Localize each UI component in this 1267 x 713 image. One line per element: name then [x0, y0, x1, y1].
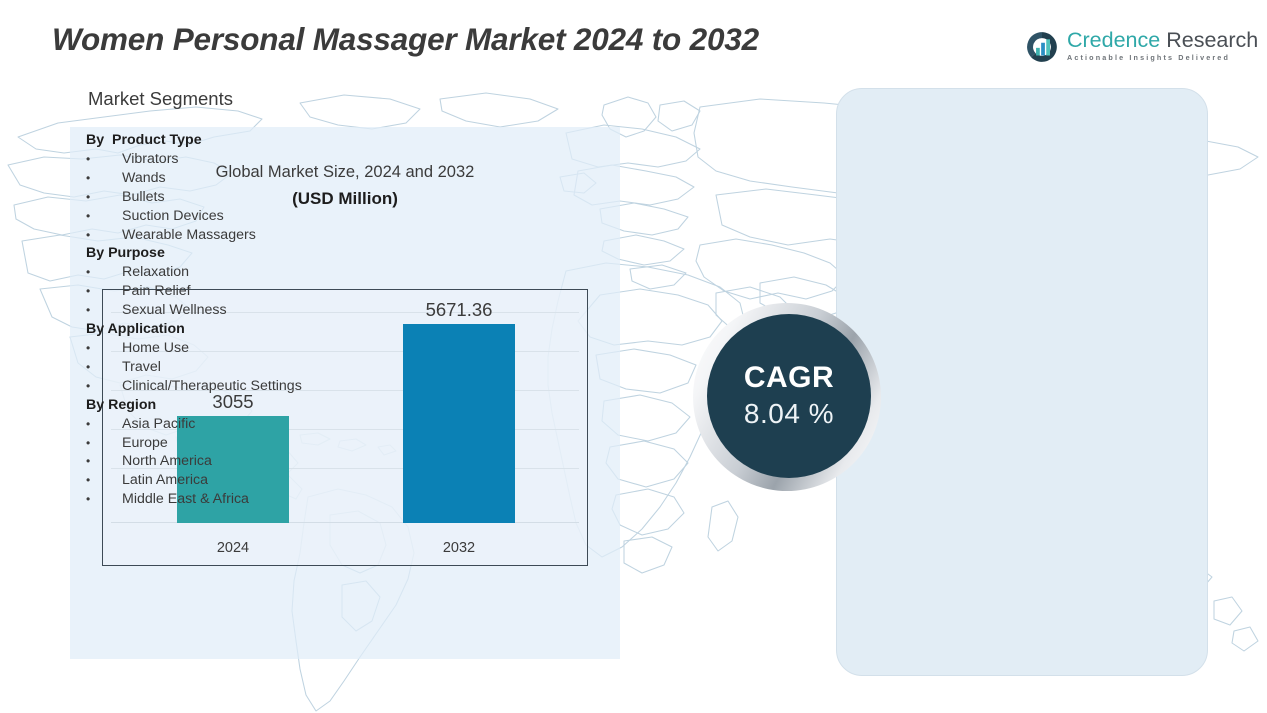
- segment-item: •Pain Relief: [86, 282, 386, 301]
- segment-item-label: Asia Pacific: [122, 415, 195, 434]
- bullet-icon: •: [86, 150, 122, 169]
- bullet-icon: •: [86, 452, 122, 471]
- market-segments-panel: [836, 88, 1208, 676]
- segment-item: •Latin America: [86, 471, 386, 490]
- segment-group-title: By Product Type: [86, 131, 386, 150]
- segment-item-label: North America: [122, 452, 212, 471]
- segment-item: •Europe: [86, 434, 386, 453]
- segment-item-label: Suction Devices: [122, 207, 224, 226]
- page-title: Women Personal Massager Market 2024 to 2…: [52, 21, 759, 58]
- bullet-icon: •: [86, 169, 122, 188]
- bar-value-2032: 5671.36: [384, 299, 534, 321]
- bullet-icon: •: [86, 377, 122, 396]
- segment-group-title: By Region: [86, 396, 386, 415]
- bullet-icon: •: [86, 339, 122, 358]
- logo-word-credence: Credence: [1067, 28, 1160, 52]
- segment-item: •Home Use: [86, 339, 386, 358]
- market-segments-list: By Product Type•Vibrators•Wands•Bullets•…: [86, 131, 386, 509]
- bullet-icon: •: [86, 263, 122, 282]
- segment-item: •Asia Pacific: [86, 415, 386, 434]
- cagr-badge: CAGR 8.04 %: [693, 303, 881, 491]
- segment-group-title: By Application: [86, 320, 386, 339]
- segment-item-label: Vibrators: [122, 150, 179, 169]
- cagr-value: 8.04 %: [744, 397, 834, 431]
- bullet-icon: •: [86, 226, 122, 245]
- segment-item-label: Home Use: [122, 339, 189, 358]
- cagr-disc: CAGR 8.04 %: [707, 314, 871, 478]
- logo-word-research: Research: [1166, 28, 1258, 52]
- segment-item: •Vibrators: [86, 150, 386, 169]
- bullet-icon: •: [86, 207, 122, 226]
- brand-logo[interactable]: Credence Research Actionable Insights De…: [1025, 28, 1245, 72]
- segment-item: •Clinical/Therapeutic Settings: [86, 377, 386, 396]
- logo-tagline: Actionable Insights Delivered: [1067, 53, 1258, 62]
- segment-item: •Relaxation: [86, 263, 386, 282]
- segment-item: •North America: [86, 452, 386, 471]
- bullet-icon: •: [86, 490, 122, 509]
- bar-category-2024: 2024: [158, 540, 308, 556]
- segment-item-label: Wands: [122, 169, 166, 188]
- bar-2032[interactable]: [403, 324, 515, 523]
- market-segments-title: Market Segments: [88, 88, 233, 110]
- segment-item-label: Relaxation: [122, 263, 189, 282]
- circle-bar-chart-icon: [1025, 30, 1059, 64]
- segment-item: •Suction Devices: [86, 207, 386, 226]
- bar-category-2032: 2032: [384, 540, 534, 556]
- segment-item: •Wearable Massagers: [86, 226, 386, 245]
- segment-item: •Middle East & Africa: [86, 490, 386, 509]
- segment-item-label: Sexual Wellness: [122, 301, 227, 320]
- bullet-icon: •: [86, 282, 122, 301]
- segment-item: •Wands: [86, 169, 386, 188]
- segment-item-label: Pain Relief: [122, 282, 191, 301]
- segment-item-label: Latin America: [122, 471, 208, 490]
- bullet-icon: •: [86, 358, 122, 377]
- bullet-icon: •: [86, 471, 122, 490]
- logo-wordmark: Credence Research: [1067, 28, 1258, 52]
- segment-item-label: Wearable Massagers: [122, 226, 256, 245]
- bullet-icon: •: [86, 188, 122, 207]
- segment-item: •Sexual Wellness: [86, 301, 386, 320]
- bullet-icon: •: [86, 415, 122, 434]
- segment-item-label: Travel: [122, 358, 161, 377]
- segment-group-title: By Purpose: [86, 244, 386, 263]
- bullet-icon: •: [86, 434, 122, 453]
- segment-item: •Bullets: [86, 188, 386, 207]
- segment-item-label: Bullets: [122, 188, 165, 207]
- cagr-label: CAGR: [744, 361, 834, 395]
- segment-item: •Travel: [86, 358, 386, 377]
- segment-item-label: Europe: [122, 434, 168, 453]
- segment-item-label: Middle East & Africa: [122, 490, 249, 509]
- bullet-icon: •: [86, 301, 122, 320]
- segment-item-label: Clinical/Therapeutic Settings: [122, 377, 302, 396]
